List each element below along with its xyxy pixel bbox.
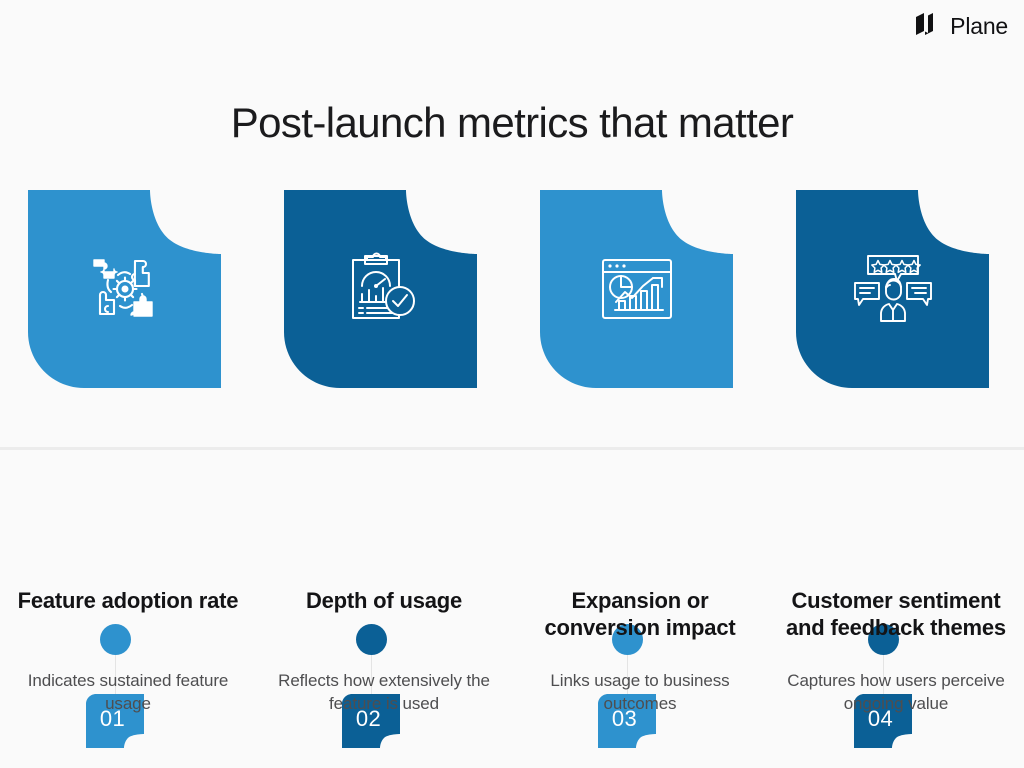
icon-card-2 bbox=[284, 190, 477, 388]
metric-heading-3: Expansion or conversion impact bbox=[518, 588, 762, 642]
metric-heading-4: Customer sentiment and feedback themes bbox=[774, 588, 1018, 642]
metrics-columns: 01 Feature adoption rate Indicates susta… bbox=[0, 190, 1024, 750]
brand-name: Plane bbox=[950, 15, 1008, 38]
metric-column-2: 02 Depth of usage Reflects how extensive… bbox=[256, 190, 512, 750]
timeline-dot-2 bbox=[356, 624, 387, 655]
metric-column-4: 04 Customer sentiment and feedback theme… bbox=[768, 190, 1024, 750]
metric-description-4: Captures how users perceive ongoing valu… bbox=[774, 670, 1018, 716]
metric-description-1: Indicates sustained feature usage bbox=[6, 670, 250, 716]
metric-description-2: Reflects how extensively the feature is … bbox=[262, 670, 506, 716]
timeline-dot-1 bbox=[100, 624, 131, 655]
metric-heading-2: Depth of usage bbox=[262, 588, 506, 615]
brand-logo: Plane bbox=[914, 13, 1008, 40]
metric-heading-1: Feature adoption rate bbox=[6, 588, 250, 615]
metric-column-3: 03 Expansion or conversion impact Links … bbox=[512, 190, 768, 750]
plane-logo-icon bbox=[914, 13, 942, 40]
icon-card-1 bbox=[28, 190, 221, 388]
icon-card-4 bbox=[796, 190, 989, 388]
metric-column-1: 01 Feature adoption rate Indicates susta… bbox=[0, 190, 256, 750]
page-title: Post-launch metrics that matter bbox=[0, 100, 1024, 146]
icon-card-3 bbox=[540, 190, 733, 388]
metric-description-3: Links usage to business outcomes bbox=[518, 670, 762, 716]
